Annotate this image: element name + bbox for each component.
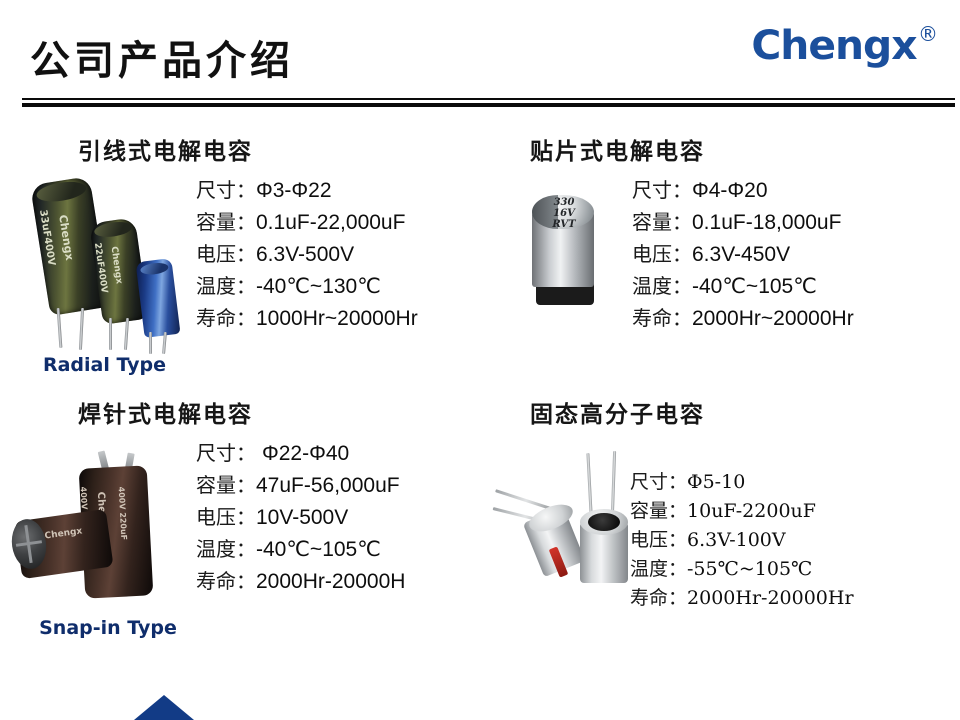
capacitor-open-top (588, 513, 620, 531)
spec-row: 寿命： 2000Hr-20000Hr (630, 583, 854, 612)
divider-rule-thick (22, 103, 955, 107)
capacitor-lead (611, 451, 616, 515)
spec-row: 温度： -40℃~105℃ (196, 533, 405, 565)
capacitor-can-blue (136, 258, 181, 338)
product-heading: 引线式电解电容 (78, 132, 498, 166)
spec-row: 尺寸： Φ22-Φ40 (196, 437, 405, 469)
product-photo-radial: 33uF400V Chengx 22uF400V Chengx Radial T… (18, 172, 198, 362)
spec-label: 容量： (630, 496, 687, 523)
product-block-smd: 贴片式电解电容 330 16V RVT 尺寸： Φ4-Φ20 容量： 0.1uF… (512, 132, 952, 377)
product-type-caption: Radial Type (12, 354, 197, 376)
spec-label: 尺寸： (196, 437, 256, 466)
brand-logo-text: Chengx (752, 26, 917, 66)
spec-value: 6.3V-500V (256, 243, 354, 267)
spec-value: -40℃~130℃ (256, 274, 381, 299)
title-divider (22, 98, 955, 109)
spec-value: 0.1uF-22,000uF (256, 211, 405, 235)
spec-label: 尺寸： (630, 467, 687, 494)
spec-row: 尺寸： Φ5-10 (630, 467, 854, 496)
spec-label: 温度： (632, 270, 692, 299)
spec-value: 2000Hr-20000Hr (687, 587, 854, 609)
spec-row: 电压： 6.3V-450V (632, 238, 854, 270)
capacitor-lead (109, 318, 112, 350)
spec-list-polymer: 尺寸： Φ5-10 容量： 10uF-2200uF 电压： 6.3V-100V … (630, 467, 854, 612)
capacitor-lead (162, 332, 167, 354)
spec-value: 2000Hr~20000Hr (692, 307, 854, 331)
spec-row: 尺寸： Φ4-Φ20 (632, 174, 854, 206)
spec-row: 容量： 0.1uF-22,000uF (196, 206, 418, 238)
page-title: 公司产品介绍 (30, 28, 294, 86)
spec-row: 电压： 6.3V-100V (630, 525, 854, 554)
spec-row: 容量： 0.1uF-18,000uF (632, 206, 854, 238)
spec-value: Φ22-Φ40 (262, 442, 349, 466)
capacitor-print-label: 33uF400V (37, 209, 57, 267)
spec-label: 寿命： (632, 302, 692, 331)
spec-value: 1000Hr~20000Hr (256, 307, 418, 331)
spec-value: -55℃~105℃ (687, 558, 812, 580)
capacitor-brand-print: Chengx (109, 246, 124, 285)
spec-row: 温度： -40℃~105℃ (632, 270, 854, 302)
spec-value: 10uF-2200uF (687, 500, 816, 522)
product-heading: 固态高分子电容 (530, 395, 952, 429)
spec-label: 寿命： (196, 565, 256, 594)
spec-label: 寿命： (196, 302, 256, 331)
spec-label: 容量： (196, 469, 256, 498)
spec-row: 电压： 6.3V-500V (196, 238, 418, 270)
capacitor-print-label: 400V 220uF (117, 486, 129, 540)
spec-label: 电压： (632, 238, 692, 267)
spec-row: 寿命： 2000Hr~20000Hr (632, 302, 854, 334)
spec-list-radial: 尺寸： Φ3-Φ22 容量： 0.1uF-22,000uF 电压： 6.3V-5… (196, 174, 418, 334)
spec-list-smd: 尺寸： Φ4-Φ20 容量： 0.1uF-18,000uF 电压： 6.3V-4… (632, 174, 854, 334)
spec-value: 47uF-56,000uF (256, 474, 400, 498)
spec-label: 温度： (196, 533, 256, 562)
spec-row: 温度： -55℃~105℃ (630, 554, 854, 583)
capacitor-lead (586, 453, 592, 515)
spec-row: 电压： 10V-500V (196, 501, 405, 533)
product-heading: 贴片式电解电容 (530, 132, 952, 166)
capacitor-brand-print: Chengx (44, 526, 83, 541)
brand-logo: Chengx ® (753, 26, 938, 66)
product-type-caption: Snap-in Type (8, 617, 208, 639)
spec-value: 6.3V-450V (692, 243, 790, 267)
spec-list-snapin: 尺寸： Φ22-Φ40 容量： 47uF-56,000uF 电压： 10V-50… (196, 437, 405, 597)
capacitor-print-label: 330 16V RVT (536, 197, 592, 230)
spec-label: 电压： (630, 525, 687, 552)
capacitor-brand-print: Chengx (56, 214, 76, 262)
capacitor-lead (149, 332, 152, 354)
registered-trademark-icon: ® (918, 24, 938, 44)
product-block-snapin: 焊针式电解电容 400V 220uF Chengx 400V 220uF Che… (28, 395, 498, 640)
product-block-polymer: 固态高分子电容 尺寸： Φ5-10 容量： 10uF-2200uF 电压： 6.… (512, 395, 952, 640)
spec-value: Φ3-Φ22 (256, 179, 332, 203)
spec-label: 电压： (196, 501, 256, 530)
spec-label: 容量： (196, 206, 256, 235)
spec-value: 0.1uF-18,000uF (692, 211, 841, 235)
product-block-radial: 引线式电解电容 33uF400V Chengx 22uF400V Chengx … (28, 132, 498, 377)
spec-row: 温度： -40℃~130℃ (196, 270, 418, 302)
spec-row: 寿命： 2000Hr-20000H (196, 565, 405, 597)
capacitor-lead (79, 308, 84, 350)
spec-label: 寿命： (630, 583, 687, 610)
spec-value: -40℃~105℃ (256, 537, 381, 562)
product-heading: 焊针式电解电容 (78, 395, 498, 429)
spec-label: 容量： (632, 206, 692, 235)
spec-label: 温度： (630, 554, 687, 581)
product-photo-snapin: 400V 220uF Chengx 400V 220uF Chengx Snap… (10, 437, 200, 632)
spec-label: 尺寸： (632, 174, 692, 203)
spec-label: 尺寸： (196, 174, 256, 203)
spec-label: 电压： (196, 238, 256, 267)
spec-value: 6.3V-100V (687, 529, 786, 551)
spec-value: 2000Hr-20000H (256, 570, 405, 594)
spec-value: Φ5-10 (687, 471, 745, 493)
spec-row: 寿命： 1000Hr~20000Hr (196, 302, 418, 334)
spec-value: Φ4-Φ20 (692, 179, 768, 203)
spec-row: 尺寸： Φ3-Φ22 (196, 174, 418, 206)
spec-row: 容量： 10uF-2200uF (630, 496, 854, 525)
spec-value: 10V-500V (256, 506, 348, 530)
spec-row: 容量： 47uF-56,000uF (196, 469, 405, 501)
spec-label: 温度： (196, 270, 256, 299)
capacitor-lead (124, 318, 129, 350)
slide-header: 公司产品介绍 Chengx ® (0, 0, 960, 118)
product-photo-smd: 330 16V RVT (518, 187, 638, 327)
bottom-triangle-decoration (134, 695, 194, 720)
spec-value: -40℃~105℃ (692, 274, 817, 299)
